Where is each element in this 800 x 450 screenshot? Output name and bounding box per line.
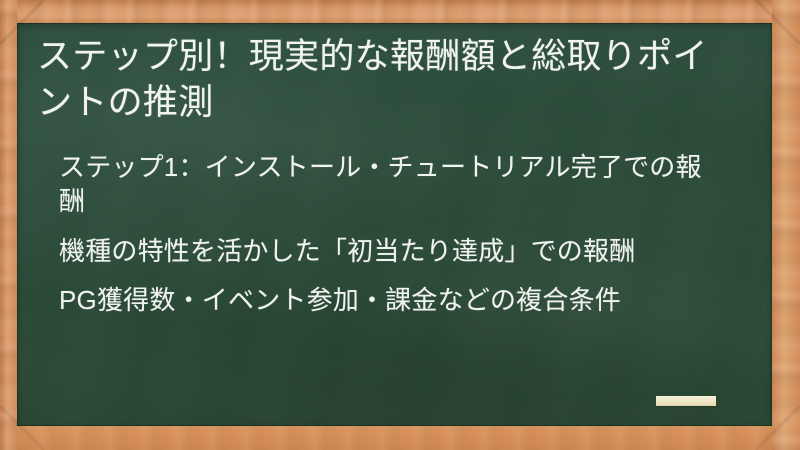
- frame-left-stile: [0, 0, 17, 450]
- list-item: PG獲得数・イベント参加・課金などの複合条件: [59, 284, 709, 318]
- step-list: ステップ1：インストール・チュートリアル完了での報酬 機種の特性を活かした「初当…: [37, 151, 756, 318]
- list-item: ステップ1：インストール・チュートリアル完了での報酬: [59, 151, 709, 219]
- chalkboard-surface: ステップ別！現実的な報酬額と総取りポイントの推測 ステップ1：インストール・チュ…: [17, 23, 772, 426]
- frame-bottom-rail: [0, 426, 800, 450]
- frame-top-rail: [0, 0, 800, 23]
- slide-title: ステップ別！現実的な報酬額と総取りポイントの推測: [37, 34, 709, 125]
- chalk-stick-icon: [656, 396, 716, 406]
- frame-right-stile: [772, 0, 800, 450]
- list-item: 機種の特性を活かした「初当たり達成」での報酬: [59, 235, 709, 269]
- chalkboard-slide: ステップ別！現実的な報酬額と総取りポイントの推測 ステップ1：インストール・チュ…: [0, 0, 800, 450]
- board-content: ステップ別！現実的な報酬額と総取りポイントの推測 ステップ1：インストール・チュ…: [17, 23, 772, 426]
